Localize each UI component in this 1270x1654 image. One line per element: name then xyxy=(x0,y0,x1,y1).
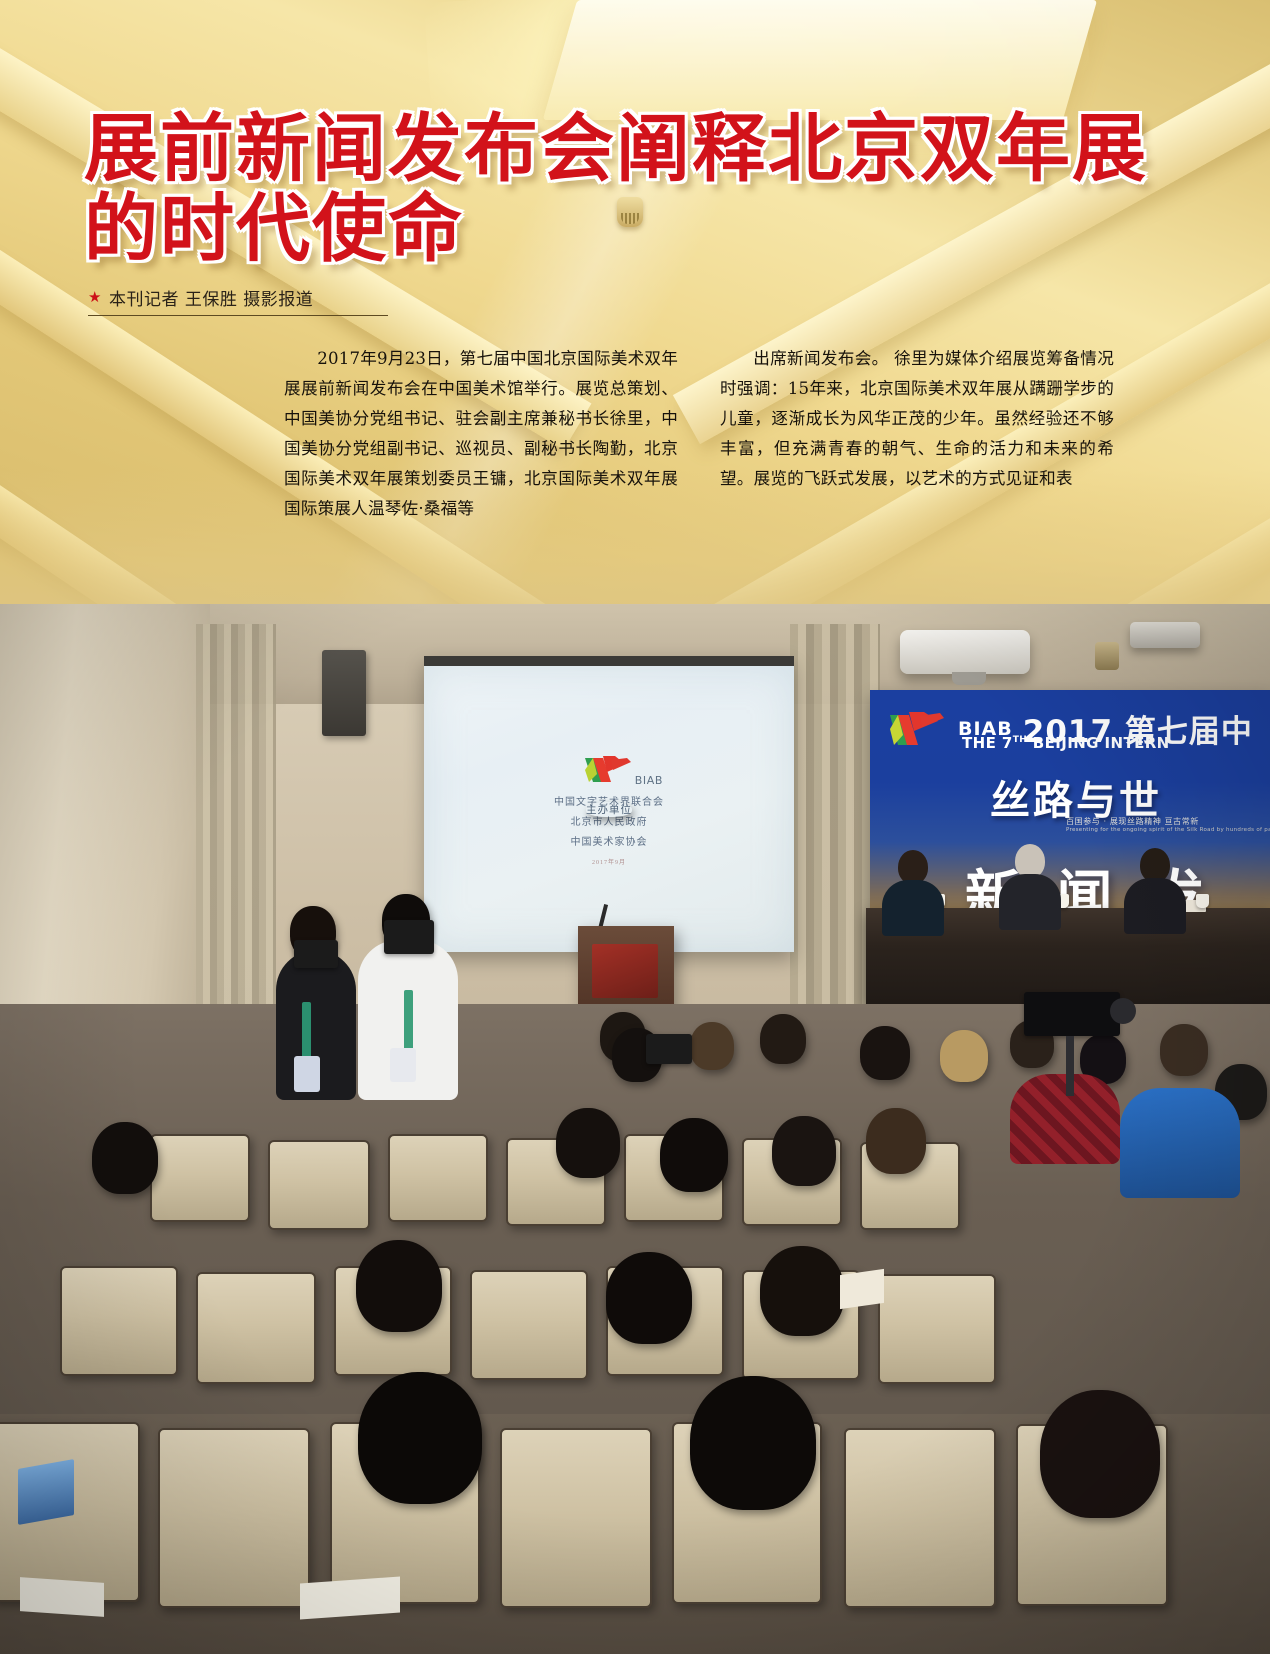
backdrop-theme-sub-cn: 百国参与 · 展现丝路精神 亘古常新 xyxy=(1066,816,1199,827)
wall-speaker xyxy=(322,650,366,736)
biab-wordmark: BIAB xyxy=(635,774,663,787)
paper-document xyxy=(20,1577,104,1617)
panelist xyxy=(1015,844,1061,930)
chair xyxy=(878,1274,996,1384)
ceiling-projector-icon xyxy=(900,630,1030,674)
audience-head xyxy=(606,1252,692,1344)
panelist xyxy=(898,850,944,936)
byline: ★ 本刊记者 王保胜 摄影报道 xyxy=(88,285,388,316)
column-right: 出席新闻发布会。 徐里为媒体介绍展览筹备情况时强调：15年来，北京国际美术双年展… xyxy=(720,344,1114,524)
paragraph: 2017年9月23日，第七届中国北京国际美术双年展展前新闻发布会在中国美术馆举行… xyxy=(284,344,678,524)
audience-head xyxy=(866,1108,926,1174)
audience-head xyxy=(356,1240,442,1332)
ceiling-light-panel xyxy=(543,0,1097,120)
audience-head xyxy=(1160,1024,1208,1076)
audience-head xyxy=(760,1246,844,1336)
chair xyxy=(150,1134,250,1222)
chair xyxy=(158,1428,310,1608)
chair xyxy=(388,1134,488,1222)
audience-head xyxy=(940,1030,988,1082)
chair xyxy=(844,1428,996,1608)
audience-head xyxy=(92,1122,158,1194)
ceiling-projector-icon xyxy=(1130,622,1200,648)
chair xyxy=(470,1270,588,1380)
conference-photo: BIAB 主办单位 中国文字艺术界联合会 北京市人民政府 中国美术家协会 201… xyxy=(0,604,1270,1654)
article-body: 2017年9月23日，第七届中国北京国际美术双年展展前新闻发布会在中国美术馆举行… xyxy=(284,344,1114,524)
backdrop-theme-sub-en: Presenting for the ongoing spirit of the… xyxy=(1066,827,1270,833)
paragraph: 出席新闻发布会。 徐里为媒体介绍展览筹备情况时强调：15年来，北京国际美术双年展… xyxy=(720,344,1114,494)
chair xyxy=(268,1140,370,1230)
projection-screen: BIAB 主办单位 中国文字艺术界联合会 北京市人民政府 中国美术家协会 201… xyxy=(424,656,794,952)
audience-area xyxy=(0,1004,1270,1654)
slide-line-4: 中国美术家协会 xyxy=(571,833,648,848)
byline-text: 本刊记者 王保胜 摄影报道 xyxy=(109,285,313,310)
magazine-page: 展前新闻发布会阐释北京双年展 的时代使命 ★ 本刊记者 王保胜 摄影报道 201… xyxy=(0,0,1270,1654)
audience-head xyxy=(358,1372,482,1504)
audience-head xyxy=(772,1116,836,1186)
column-left: 2017年9月23日，第七届中国北京国际美术双年展展前新闻发布会在中国美术馆举行… xyxy=(284,344,678,524)
biab-logo-icon xyxy=(884,707,948,751)
video-camera xyxy=(1014,992,1144,1112)
ceiling-camera-icon xyxy=(1095,642,1119,670)
slide-line-1: 主办单位 xyxy=(586,802,632,817)
paper-document xyxy=(840,1269,884,1309)
laptop-screen xyxy=(18,1459,74,1525)
backdrop-title-en: THE 7TH BEIJING INTERN xyxy=(962,734,1170,752)
biab-logo-icon: BIAB xyxy=(581,752,637,786)
star-icon: ★ xyxy=(88,290,102,305)
title-en-sup: TH xyxy=(1013,735,1027,745)
audience-head xyxy=(760,1014,806,1064)
chair xyxy=(60,1266,178,1376)
audience-head xyxy=(1040,1390,1160,1518)
photographer xyxy=(596,1022,706,1132)
page-title: 展前新闻发布会阐释北京双年展 的时代使命 xyxy=(84,110,1164,270)
audience-head xyxy=(860,1026,910,1080)
title-en-prefix: THE 7 xyxy=(962,734,1013,752)
chair xyxy=(196,1272,316,1384)
photographer xyxy=(272,906,362,1136)
paper-document xyxy=(300,1577,400,1620)
audience-head xyxy=(690,1376,816,1510)
chair xyxy=(500,1428,652,1608)
panelist xyxy=(1140,848,1186,934)
title-en-rest: BEIJING INTERN xyxy=(1027,734,1169,752)
photographer xyxy=(358,894,458,1144)
slide-footnote: 2017年9月 xyxy=(592,857,626,866)
